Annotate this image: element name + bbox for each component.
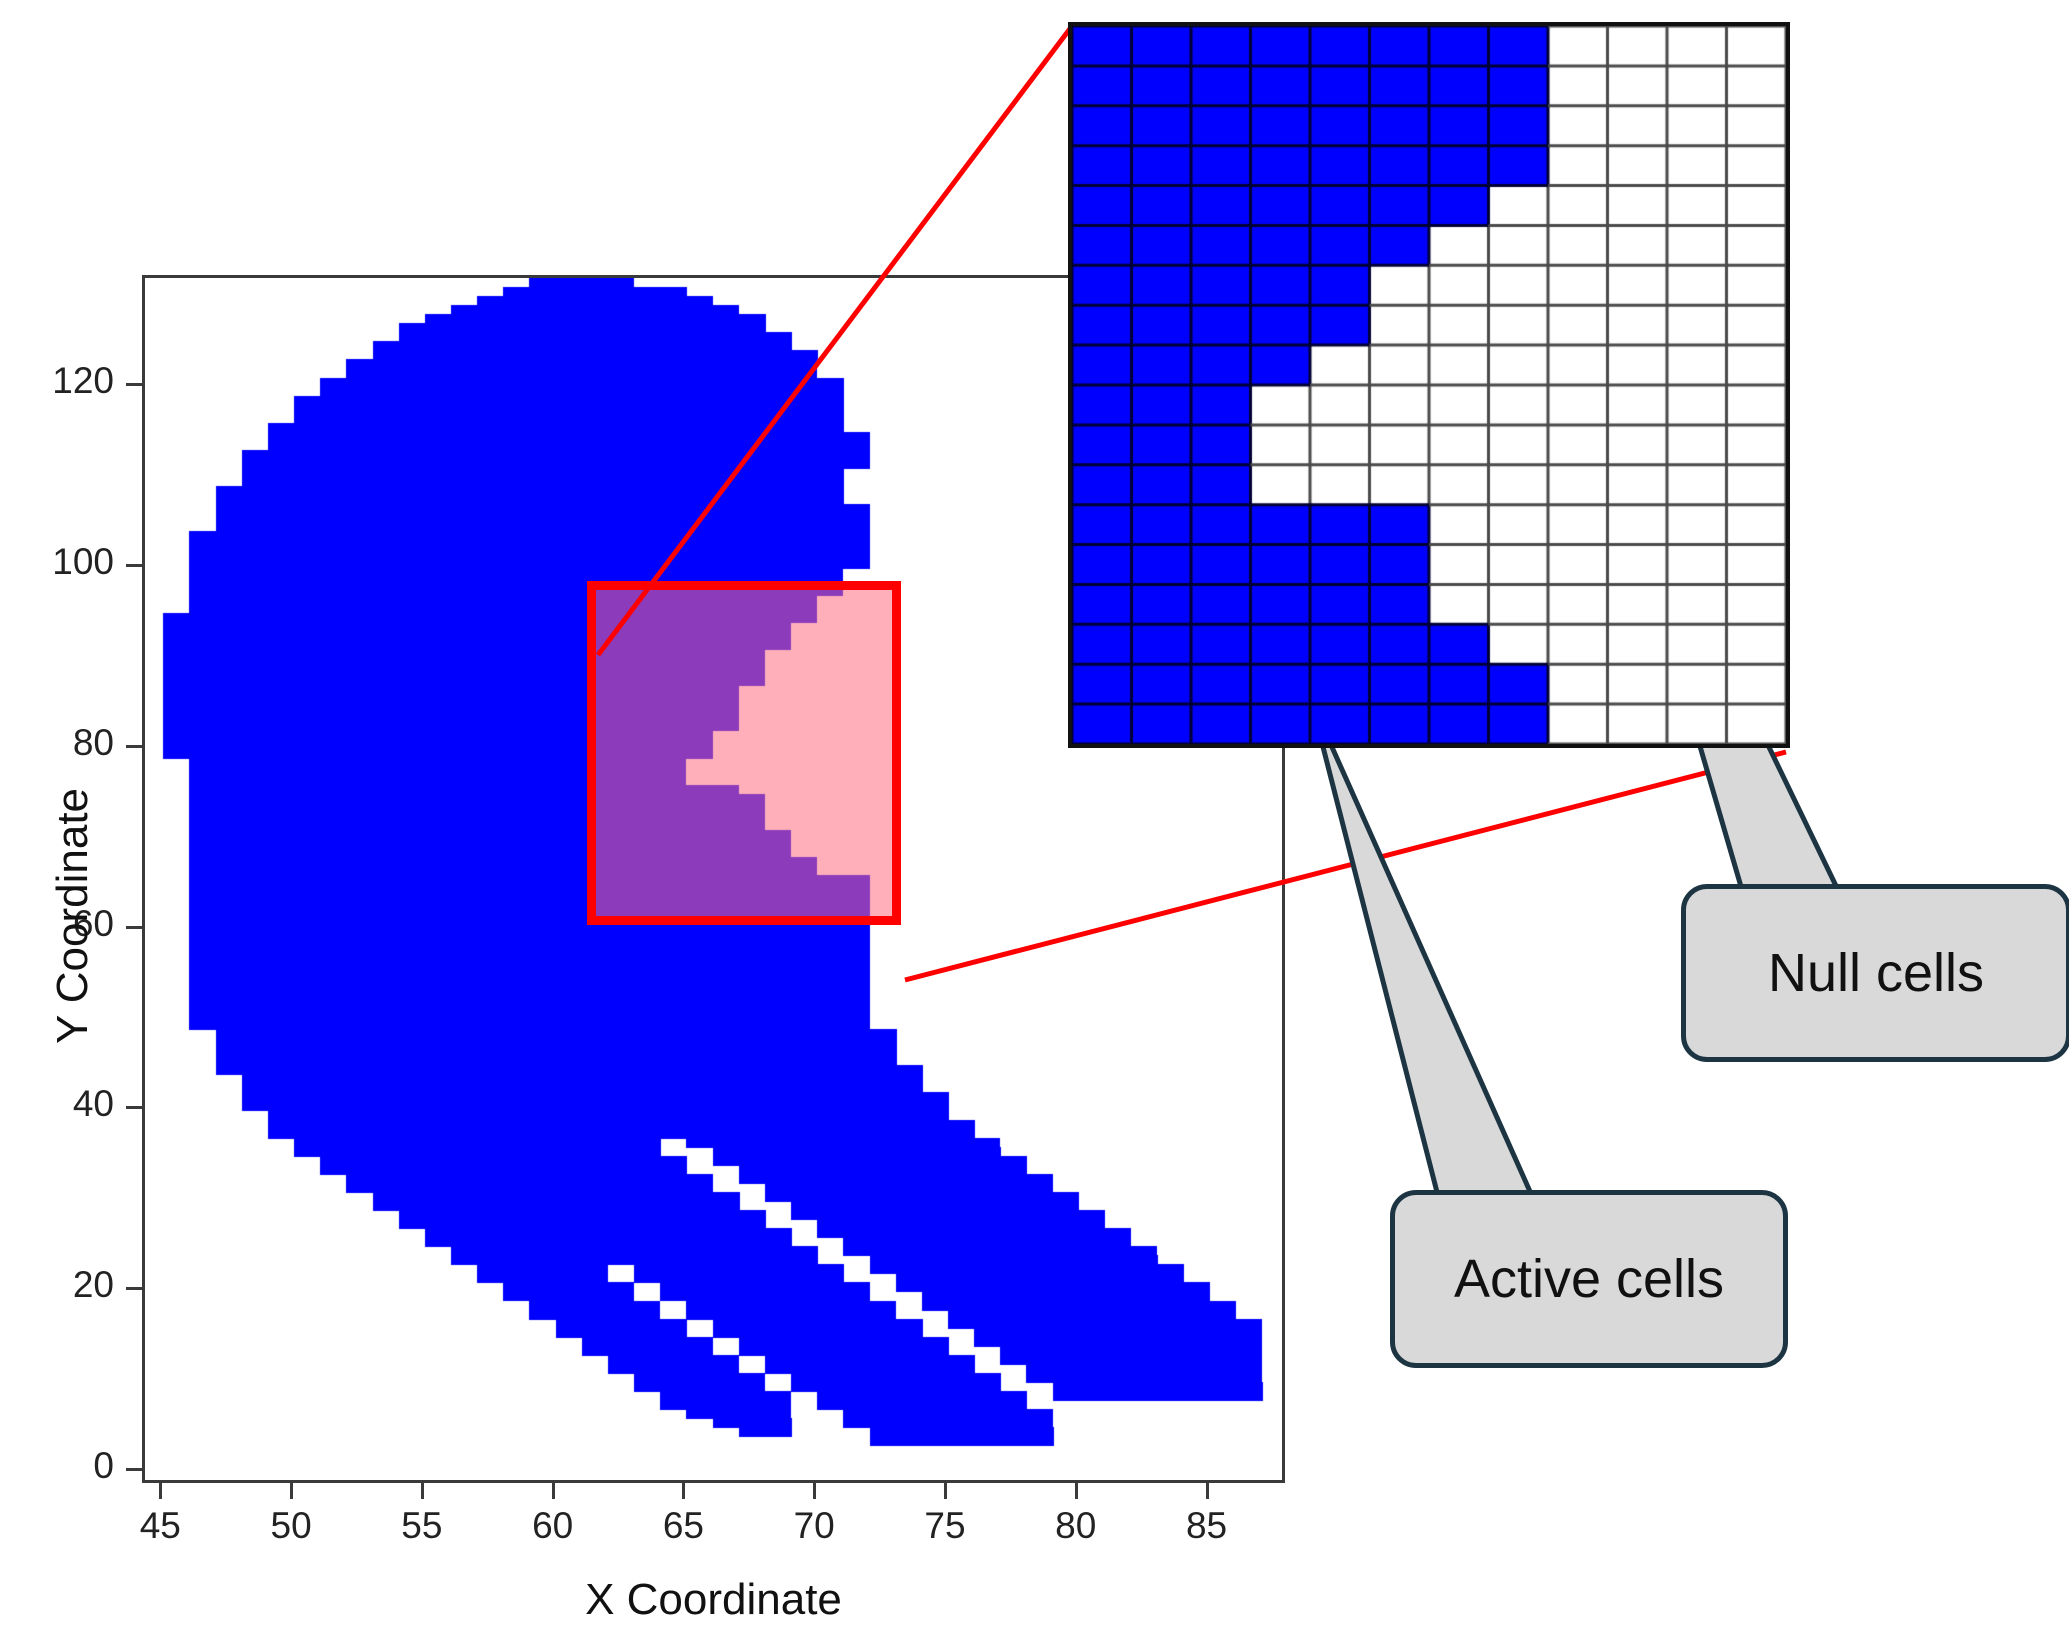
x-tick-mark — [944, 1483, 947, 1499]
y-tick-label: 80 — [73, 722, 114, 764]
callout-active-cells-label: Active cells — [1454, 1248, 1724, 1310]
y-tick-mark — [126, 1287, 142, 1290]
x-tick-label: 75 — [900, 1505, 990, 1547]
x-tick-mark — [290, 1483, 293, 1499]
callout-null-cells-label: Null cells — [1768, 942, 1984, 1004]
x-axis-title: X Coordinate — [484, 1575, 944, 1625]
callout-active-cells[interactable]: Active cells — [1390, 1190, 1788, 1368]
x-tick-label: 60 — [508, 1505, 598, 1547]
x-tick-mark — [1206, 1483, 1209, 1499]
x-tick-label: 70 — [769, 1505, 859, 1547]
x-tick-label: 50 — [246, 1505, 336, 1547]
y-tick-label: 40 — [73, 1083, 114, 1125]
x-tick-label: 85 — [1162, 1505, 1252, 1547]
y-tick-mark — [126, 926, 142, 929]
x-tick-label: 45 — [115, 1505, 205, 1547]
zoomed-grid-inset — [1068, 22, 1790, 748]
y-tick-mark — [126, 745, 142, 748]
x-tick-mark — [1075, 1483, 1078, 1499]
y-tick-mark — [126, 1106, 142, 1109]
zoom-rectangle[interactable] — [587, 581, 901, 925]
inset-grid-cells — [1072, 26, 1786, 744]
x-tick-mark — [552, 1483, 555, 1499]
y-tick-mark — [126, 1468, 142, 1471]
y-tick-label: 100 — [52, 541, 114, 583]
x-tick-mark — [813, 1483, 816, 1499]
x-tick-mark — [159, 1483, 162, 1499]
y-tick-label: 0 — [93, 1445, 114, 1487]
y-tick-label: 120 — [52, 360, 114, 402]
x-tick-label: 65 — [638, 1505, 728, 1547]
x-tick-mark — [421, 1483, 424, 1499]
y-axis-title: Y Coordinate — [48, 788, 98, 1044]
figure-canvas: 020406080100120455055606570758085 Y Coor… — [0, 0, 2069, 1606]
x-tick-label: 55 — [377, 1505, 467, 1547]
y-tick-mark — [126, 564, 142, 567]
callout-pointer-active-cells — [1311, 700, 1532, 1196]
callout-null-cells[interactable]: Null cells — [1681, 884, 2069, 1062]
y-tick-mark — [126, 383, 142, 386]
x-tick-mark — [682, 1483, 685, 1499]
x-tick-label: 80 — [1031, 1505, 1121, 1547]
y-tick-label: 20 — [73, 1264, 114, 1306]
